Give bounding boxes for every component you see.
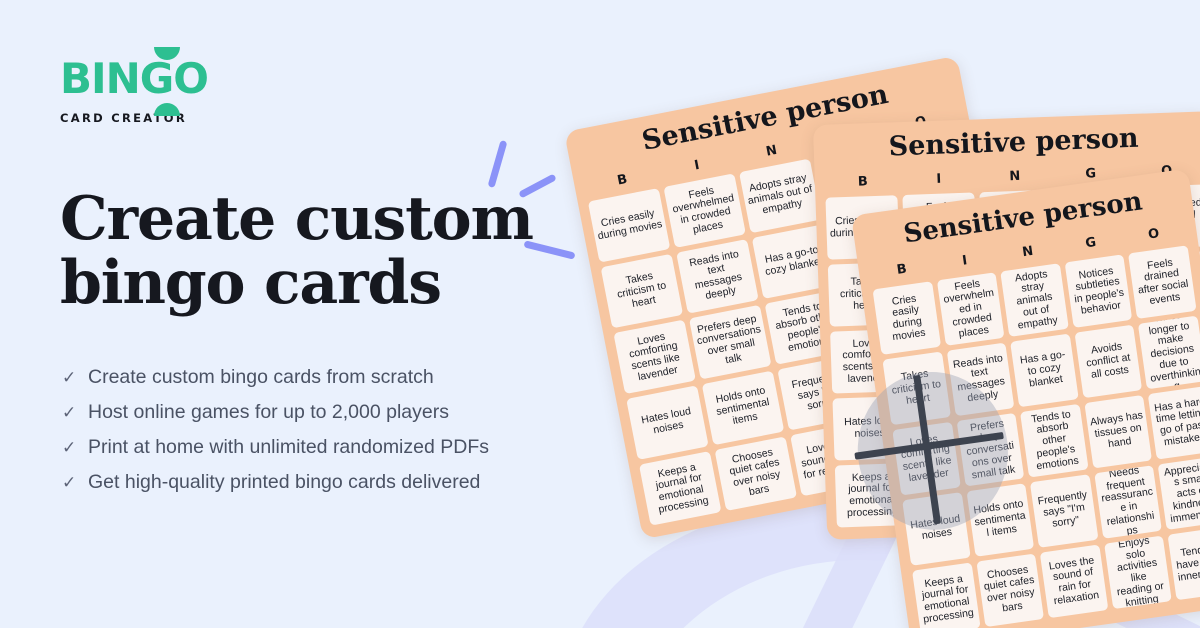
feature-list: ✓ Create custom bingo cards from scratch… <box>62 360 489 500</box>
bingo-cell[interactable]: Frequently says "I'm sorry" <box>1030 474 1098 548</box>
bingo-cell[interactable]: Feels overwhelmed in crowded places <box>663 173 746 248</box>
feature-label: Get high-quality printed bingo cards del… <box>88 471 480 494</box>
bingo-card-front: Sensitive personBINGOCries easily during… <box>851 168 1200 628</box>
bingo-grid: Cries easily during moviesFeels overwhel… <box>873 245 1200 628</box>
bingo-cell[interactable]: Takes criticism to heart <box>601 254 684 329</box>
check-icon: ✓ <box>62 439 77 456</box>
logo-arc-bottom-icon <box>154 103 180 116</box>
bingo-cell[interactable]: Hates loud noises <box>626 385 709 460</box>
bingo-cell[interactable]: Enjoys solo activities like reading or k… <box>1104 536 1172 610</box>
bingo-cell[interactable]: Avoids conflict at all costs <box>1074 325 1142 399</box>
bingo-cell[interactable]: Keeps a journal for emotional processing <box>639 451 722 526</box>
bingo-cell[interactable]: Prefers deep conversations over small ta… <box>956 413 1024 487</box>
bingo-column-header-b: B <box>825 173 902 198</box>
bingo-column-header-i: I <box>901 170 978 195</box>
bingo-cell[interactable]: Takes criticism to heart <box>882 352 950 426</box>
bingo-cell[interactable]: Adopts stray animals out of empathy <box>1000 263 1068 337</box>
headline-line-1: Create custom <box>60 184 533 254</box>
hero-banner: BINGO CARD CREATOR Create custom bingo c… <box>0 0 1200 628</box>
bingo-cell[interactable]: Reads into text messages deeply <box>676 239 759 314</box>
bingo-cell[interactable]: Holds onto sentimental items <box>966 483 1034 557</box>
bingo-cell[interactable]: Appreciates small acts of kindness immen… <box>1158 456 1200 530</box>
bingo-cell[interactable]: Chooses quiet cafes over noisy bars <box>976 553 1044 627</box>
bingo-cell[interactable]: Takes longer to make decisions due to ov… <box>1138 316 1200 390</box>
brand-wordmark: BINGO <box>60 58 208 100</box>
check-icon: ✓ <box>62 369 77 386</box>
bingo-cell[interactable]: Cries easily during movies <box>873 281 941 355</box>
bingo-cell[interactable]: Loves comforting scents like lavender <box>613 320 696 395</box>
bingo-cell[interactable]: Cries easily during movies <box>588 188 671 263</box>
bingo-cell[interactable]: Adopts stray animals out of empathy <box>739 159 822 234</box>
feature-label: Create custom bingo cards from scratch <box>88 366 434 389</box>
bingo-cell[interactable]: Hates loud noises <box>902 492 970 566</box>
bingo-cell[interactable]: Feels drained after social events <box>1128 245 1196 319</box>
brand-logo[interactable]: BINGO CARD CREATOR <box>60 58 208 125</box>
bingo-cell[interactable]: Feels overwhelmed in crowded places <box>936 272 1004 346</box>
bingo-cell[interactable]: Loves comforting scents like lavender <box>892 422 960 496</box>
list-item: ✓ Print at home with unlimited randomize… <box>62 430 489 465</box>
bingo-cell[interactable]: Tends to have a rich inner world <box>1168 527 1200 601</box>
check-icon: ✓ <box>62 474 77 491</box>
bingo-cell[interactable]: Prefers deep conversations over small ta… <box>689 305 772 380</box>
headline-line-2: bingo cards <box>60 248 441 318</box>
bingo-cell[interactable]: Keeps a journal for emotional processing <box>912 562 980 628</box>
check-icon: ✓ <box>62 404 77 421</box>
bingo-cell[interactable]: Notices subtleties in people's behavior <box>1064 254 1132 328</box>
bingo-cell[interactable]: Tends to absorb other people's emotions <box>1020 404 1088 478</box>
list-item: ✓ Get high-quality printed bingo cards d… <box>62 465 489 500</box>
feature-label: Host online games for up to 2,000 player… <box>88 401 449 424</box>
sparkle-stroke-1 <box>488 140 508 188</box>
page-title: Create custom bingo cards <box>60 188 533 315</box>
bingo-card-title: Sensitive person <box>823 122 1200 162</box>
bingo-cell[interactable]: Reads into text messages deeply <box>946 343 1014 417</box>
bingo-cell[interactable]: Always has tissues on hand <box>1084 395 1152 469</box>
bingo-cell[interactable]: Has a hard time letting go of past mista… <box>1148 386 1200 460</box>
brand-tagline: CARD CREATOR <box>60 111 208 125</box>
bingo-cell[interactable]: Needs frequent reassurance in relationsh… <box>1094 465 1162 539</box>
bingo-cell[interactable]: Has a go-to cozy blanket <box>1010 334 1078 408</box>
bingo-cell[interactable]: Holds onto sentimental items <box>702 371 785 446</box>
bingo-cell[interactable]: Loves the sound of rain for relaxation <box>1040 544 1108 618</box>
feature-label: Print at home with unlimited randomized … <box>88 436 489 459</box>
list-item: ✓ Host online games for up to 2,000 play… <box>62 395 489 430</box>
list-item: ✓ Create custom bingo cards from scratch <box>62 360 489 395</box>
bingo-cell[interactable]: Chooses quiet cafes over noisy bars <box>715 436 798 511</box>
